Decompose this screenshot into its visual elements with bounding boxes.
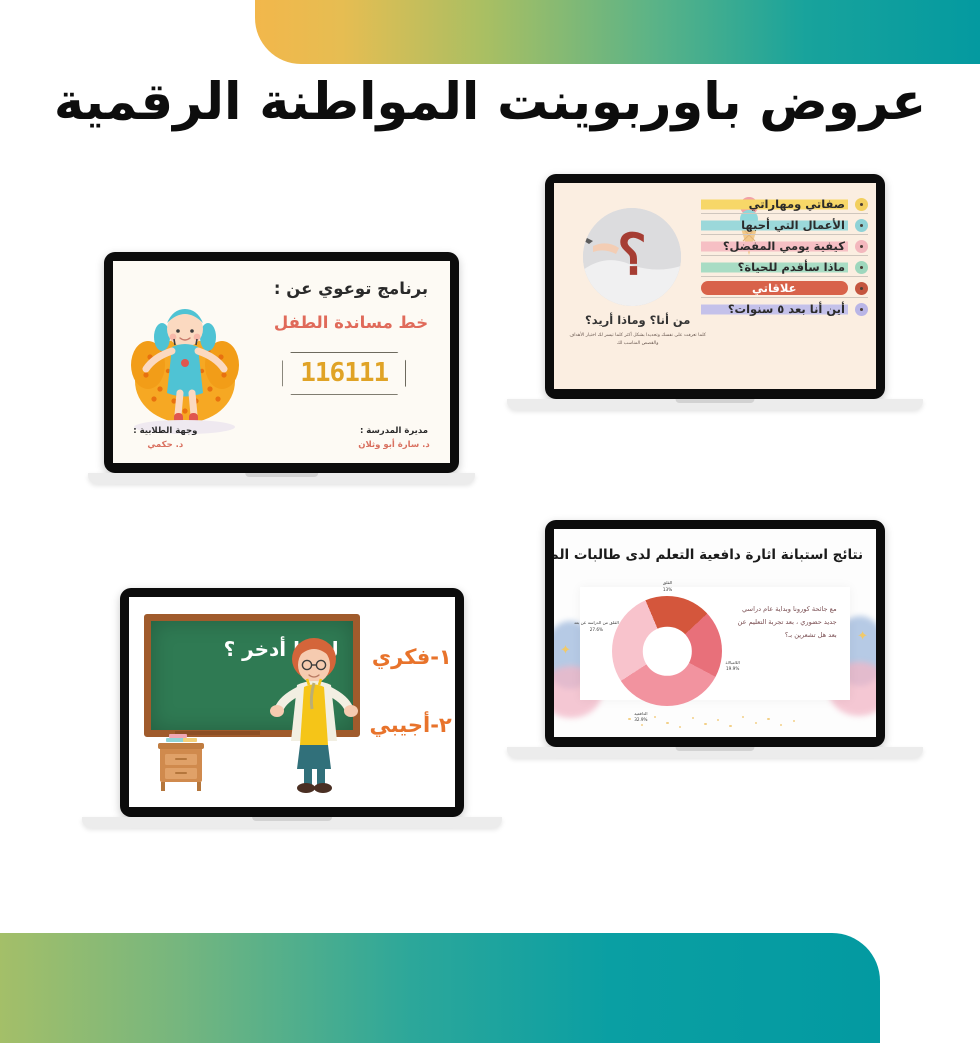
laptop-base [88,473,475,484]
survey-question: مع جائحة كورونا وبداية عام دراسي جديد حض… [737,603,837,643]
top-gradient-bar [255,0,980,64]
laptop-lid: لماذا أدخر ؟ [120,588,464,817]
survey-title: نتائج استبانة اثارة دافعية التعلم لدى طا… [567,547,863,563]
list-item[interactable]: علاقاتي [701,281,868,298]
photo-caption: من أنا؟ وماذا أريد؟ كلما تعرفت على نفسك … [567,313,709,348]
chart-panel: مع جائحة كورونا وبداية عام دراسي جديد حض… [580,587,851,699]
list-item[interactable]: أين أنا بعد ٥ سنوات؟ [701,302,868,318]
donut-chart: القلق13% اللامبالاة19.9% الدافعية32.9% ا… [612,596,722,706]
chart-label-lamubalah: اللامبالاة19.9% [726,660,740,673]
slide1-title-line2: خط مساندة الطفل [274,313,428,332]
chart-label-qalaq-remote: القلق من الدراسة عن بعد27.6% [574,620,619,633]
hotline-number: 116111 [300,358,388,388]
laptop-about-me: ؟ من أنا؟ وماذا أريد؟ كلما تعرفت على نفس… [545,174,885,410]
footer-value: د. سارة أبو وثلان [358,438,430,452]
list-item-label: كيفية يومي المفضل؟ [701,239,848,253]
caption-subtext: كلما تعرفت على نفسك وتحديدا بشكل أكثر كل… [567,332,709,348]
step-two-label: ٢-أجيبي [369,713,451,737]
sparkle-icon-left: ✦ [560,643,571,658]
slide1-title-line1: برنامج توعوي عن : [274,279,428,298]
laptop-base [82,817,502,828]
laptop-screen: لماذا أدخر ؟ [129,597,455,807]
sparkle-icon-right: ✦ [857,629,868,644]
list-item-label: صفاتي ومهاراتي [701,197,848,211]
cabinet-with-books-illustration [152,732,210,792]
list-item[interactable]: كيفية يومي المفضل؟ [701,239,868,256]
bullet-dot [855,240,868,253]
donut-ring [612,596,722,706]
laptop-lid: ؟ من أنا؟ وماذا أريد؟ كلما تعرفت على نفس… [545,174,885,399]
list-item[interactable]: ماذا سأقدم للحياة؟ [701,260,868,277]
laptop-screen: ✦ ✦ نتائج استبانة اثارة دافعية التعلم لد… [554,529,876,737]
laptop-lid: ✦ ✦ نتائج استبانة اثارة دافعية التعلم لد… [545,520,885,747]
footer-value: د. حكمي [133,438,197,452]
step-one-label: ١-فكري [372,645,452,669]
page-title: عروض باوربوينت المواطنة الرقمية [0,74,980,131]
bullet-dot [855,303,868,316]
slide-about-me: ؟ من أنا؟ وماذا أريد؟ كلما تعرفت على نفس… [554,183,876,389]
bullet-dot [855,282,868,295]
laptop-saving-lesson: لماذا أدخر ؟ [120,588,464,828]
about-me-list: صفاتي ومهاراتي الأعمال التي أحبها كيفية … [701,197,868,322]
bottom-gradient-bar [0,933,880,1043]
slide1-footer: مديرة المدرسة : د. سارة أبو وثلان وجهة ا… [113,424,450,453]
laptop-survey-results: ✦ ✦ نتائج استبانة اثارة دافعية التعلم لد… [545,520,885,758]
slide-child-support: برنامج توعوي عن : خط مساندة الطفل 116111… [113,261,450,463]
laptop-screen: ؟ من أنا؟ وماذا أريد؟ كلما تعرفت على نفس… [554,183,876,389]
footer-label: وجهة الطلابية : [133,424,197,438]
list-item[interactable]: صفاتي ومهاراتي [701,197,868,214]
question-mark-glyph: ؟ [617,222,647,288]
laptop-child-support: برنامج توعوي عن : خط مساندة الطفل 116111… [104,252,459,484]
footer-entry-principal: مديرة المدرسة : د. سارة أبو وثلان [358,424,430,453]
question-photo: ؟ [583,208,681,306]
slide-survey-results: ✦ ✦ نتائج استبانة اثارة دافعية التعلم لد… [554,529,876,737]
chart-label-qalaq: القلق13% [663,580,672,593]
list-item-label: الأعمال التي أحبها [701,218,848,232]
laptop-screen: برنامج توعوي عن : خط مساندة الطفل 116111… [113,261,450,463]
laptop-base [507,747,923,758]
footer-label: مديرة المدرسة : [358,424,430,438]
laptop-lid: برنامج توعوي عن : خط مساندة الطفل 116111… [104,252,459,473]
caption-headline: من أنا؟ وماذا أريد؟ [567,313,709,327]
girl-on-beanbag-illustration [130,293,240,442]
list-item-label: أين أنا بعد ٥ سنوات؟ [701,302,848,316]
bullet-dot [855,261,868,274]
cabinet-svg [152,732,210,792]
laptop-base [507,399,923,410]
teacher-illustration [259,633,369,803]
list-item-label: علاقاتي [701,281,848,295]
hotline-number-badge: 116111 [282,352,406,395]
list-item-label: ماذا سأقدم للحياة؟ [701,260,848,274]
slide-saving-lesson: لماذا أدخر ؟ [129,597,455,807]
bullet-dot [855,219,868,232]
bullet-dot [855,198,868,211]
confetti-decoration [625,715,805,729]
footer-entry-student-guide: وجهة الطلابية : د. حكمي [133,424,197,453]
list-item[interactable]: الأعمال التي أحبها [701,218,868,235]
